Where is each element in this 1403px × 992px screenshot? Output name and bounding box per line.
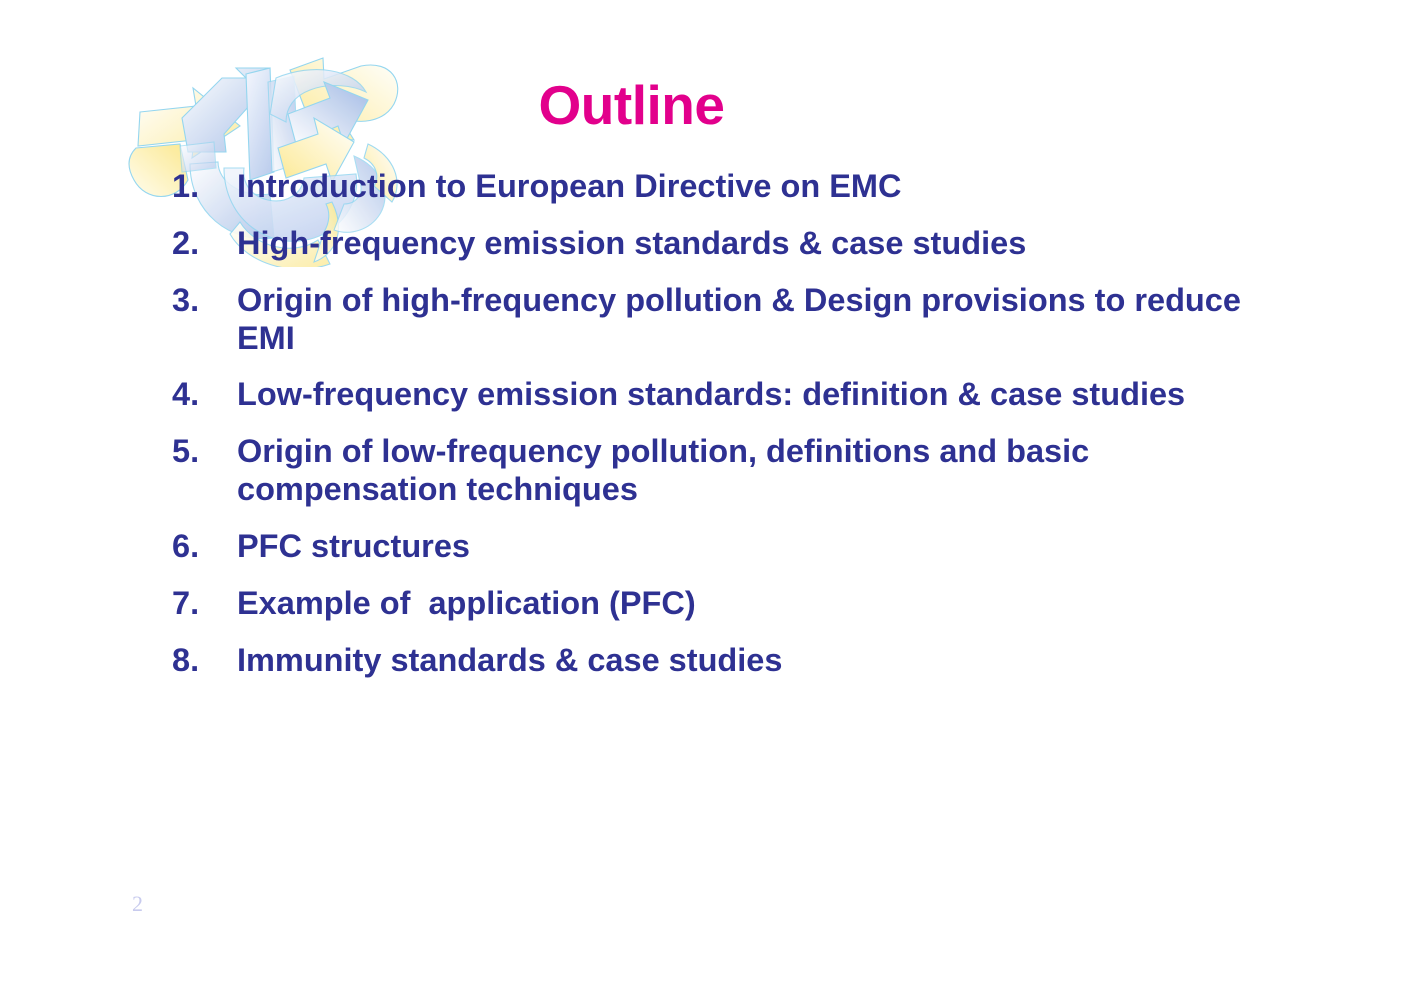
list-item-number: 3. [172,282,237,320]
list-item-label: Example of application (PFC) [237,585,1307,623]
list-item: 6. PFC structures [172,528,1307,566]
list-item-label: PFC structures [237,528,1307,566]
list-item-number: 5. [172,433,237,471]
list-item-number: 6. [172,528,237,566]
list-item-label: Immunity standards & case studies [237,642,1307,680]
list-item: 3. Origin of high-frequency pollution & … [172,282,1307,358]
list-item: 1. Introduction to European Directive on… [172,168,1307,206]
outline-list: 1. Introduction to European Directive on… [172,168,1307,699]
list-item: 2. High-frequency emission standards & c… [172,225,1307,263]
list-item: 5. Origin of low-frequency pollution, de… [172,433,1307,509]
list-item-label: Low-frequency emission standards: defini… [237,376,1307,414]
list-item-number: 8. [172,642,237,680]
list-item-label: High-frequency emission standards & case… [237,225,1307,263]
slide-canvas: Outline 1. Introduction to European Dire… [0,0,1403,992]
list-item-label: Introduction to European Directive on EM… [237,168,1307,206]
list-item-number: 1. [172,168,237,206]
list-item: 8. Immunity standards & case studies [172,642,1307,680]
list-item-label: Origin of low-frequency pollution, defin… [237,433,1307,509]
list-item: 7. Example of application (PFC) [172,585,1307,623]
slide-title: Outline [0,78,1403,133]
list-item-label: Origin of high-frequency pollution & Des… [237,282,1307,358]
list-item-number: 4. [172,376,237,414]
page-number: 2 [132,893,143,915]
list-item-number: 7. [172,585,237,623]
list-item-number: 2. [172,225,237,263]
list-item: 4. Low-frequency emission standards: def… [172,376,1307,414]
